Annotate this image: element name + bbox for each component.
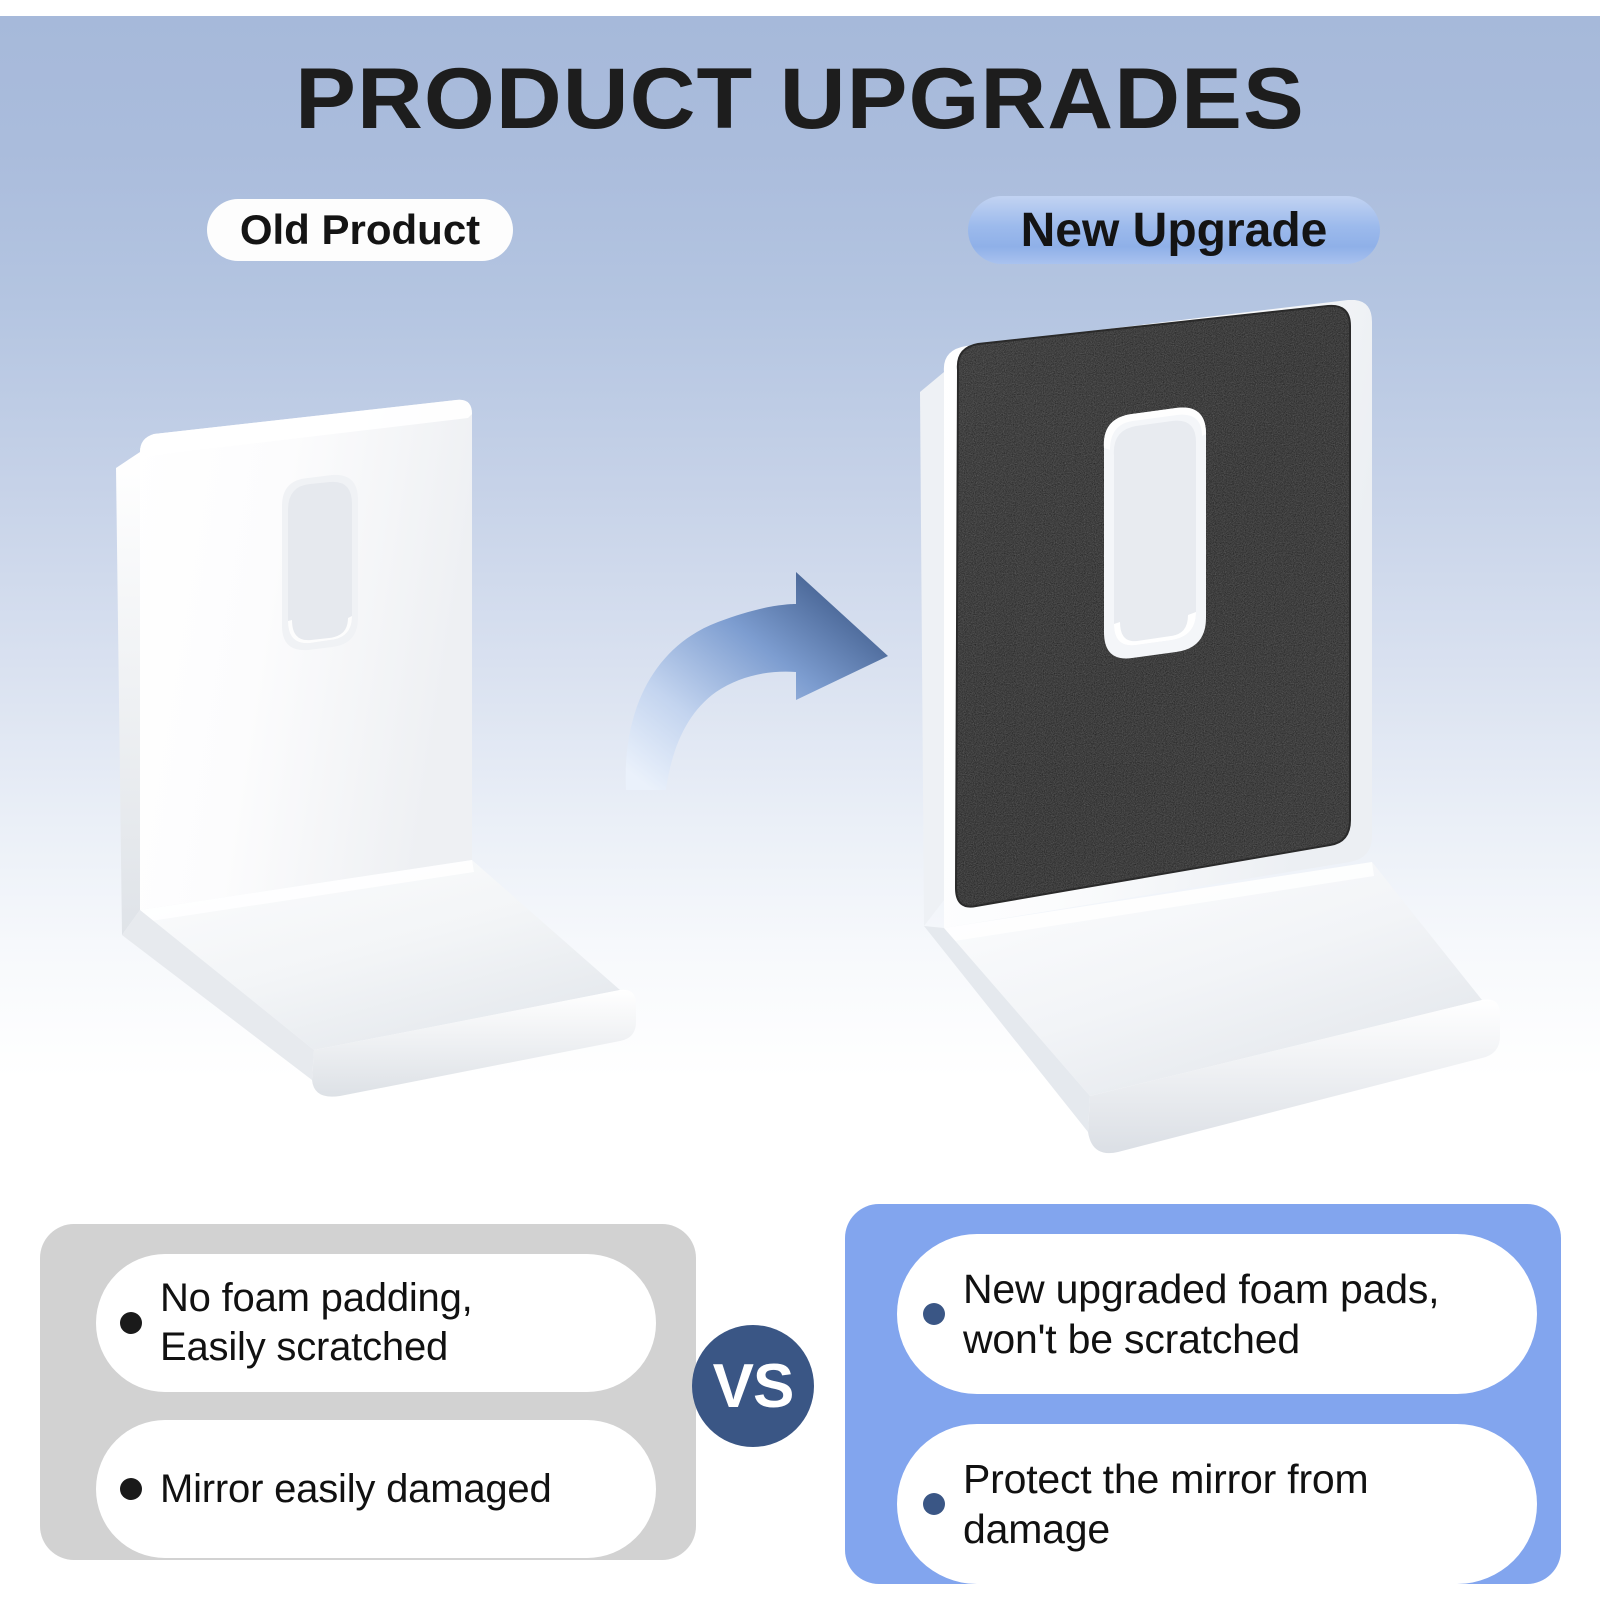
new-product-benefits-card: New upgraded foam pads, won't be scratch… [845,1204,1561,1584]
page-title: PRODUCT UPGRADES [0,50,1600,149]
list-item: Protect the mirror from damage [897,1424,1537,1584]
bullet-dot-icon [120,1478,142,1500]
new-upgrade-badge-label: New Upgrade [1021,203,1328,258]
new-bullet-1-text: New upgraded foam pads, won't be scratch… [963,1264,1439,1364]
bullet-dot-icon [923,1493,945,1515]
list-item: Mirror easily damaged [96,1420,656,1558]
vs-badge-label: VS [713,1351,794,1422]
old-bullet-1-text: No foam padding, Easily scratched [160,1274,473,1372]
vs-badge: VS [692,1325,814,1447]
old-product-drawbacks-card: No foam padding, Easily scratched Mirror… [40,1224,696,1560]
new-upgrade-badge: New Upgrade [968,196,1380,264]
infographic-canvas: PRODUCT UPGRADES Old Product New Upgrade [0,0,1600,1600]
old-product-badge: Old Product [207,199,513,261]
new-bullet-2-text: Protect the mirror from damage [963,1454,1368,1554]
new-product-image [880,300,1520,1180]
bullet-dot-icon [120,1312,142,1334]
list-item: No foam padding, Easily scratched [96,1254,656,1392]
old-product-badge-label: Old Product [240,206,480,254]
old-product-image [100,390,680,1110]
bullet-dot-icon [923,1303,945,1325]
list-item: New upgraded foam pads, won't be scratch… [897,1234,1537,1394]
old-bullet-2-text: Mirror easily damaged [160,1465,552,1514]
background-top-strip [0,0,1600,16]
